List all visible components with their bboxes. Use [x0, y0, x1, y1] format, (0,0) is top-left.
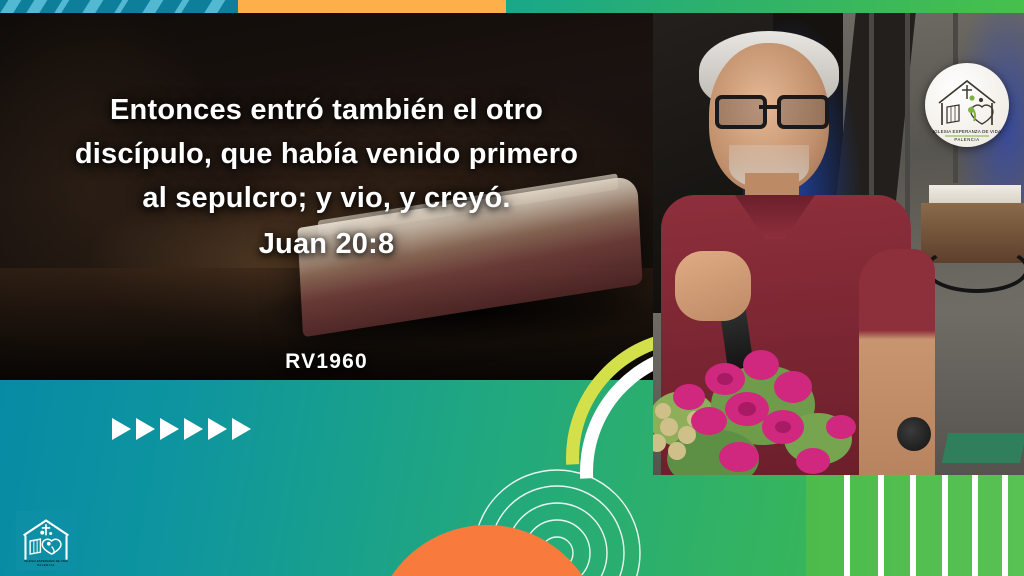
- logo-name-line-2: PALENCIA: [37, 563, 54, 567]
- house-cross-bible-heart-icon: IGLESIA ESPERANZA DE VIDA PALENCIA: [18, 513, 74, 569]
- eyeglasses-icon: [715, 95, 823, 121]
- broadcast-stage: Entonces entró también el otro discípulo…: [0, 0, 1024, 576]
- play-arrow-icon: [232, 418, 251, 440]
- flower-arrangement: [653, 309, 893, 475]
- logo-name-line-2: PALENCIA: [954, 137, 979, 142]
- top-decorative-bar: [0, 0, 1024, 13]
- verse-line-3: al sepulcro; y vio, y creyó.: [24, 176, 629, 220]
- logo-name-line-1: IGLESIA ESPERANZA DE VIDA: [933, 129, 1001, 134]
- live-video-panel[interactable]: IGLESIA ESPERANZA DE VIDA PALENCIA: [653, 13, 1024, 475]
- play-arrow-icon: [112, 418, 131, 440]
- speaker-monitor: [897, 417, 931, 451]
- arrow-chevron-group: [112, 418, 251, 440]
- verse-line-2: discípulo, que había venido primero: [24, 132, 629, 176]
- green-book: [942, 433, 1024, 463]
- verse-reference: Juan 20:8: [24, 222, 629, 266]
- vertical-stripes-decor: [806, 475, 1024, 576]
- play-arrow-icon: [136, 418, 155, 440]
- topbar-blue-segment: [0, 0, 238, 13]
- topbar-green-segment: [506, 0, 1024, 13]
- house-cross-bible-heart-icon: IGLESIA ESPERANZA DE VIDA PALENCIA: [925, 63, 1009, 147]
- topbar-orange-segment: [238, 0, 506, 13]
- church-logo-bottom-left: IGLESIA ESPERANZA DE VIDA PALENCIA: [16, 511, 76, 571]
- coiled-cable: [925, 245, 1024, 293]
- play-arrow-icon: [208, 418, 227, 440]
- bible-version-label: RV1960: [0, 350, 653, 374]
- church-logo-circle: IGLESIA ESPERANZA DE VIDA PALENCIA: [925, 63, 1009, 147]
- verse-text-block: Entonces entró también el otro discípulo…: [0, 88, 653, 266]
- verse-line-1: Entonces entró también el otro: [24, 88, 629, 132]
- play-arrow-icon: [160, 418, 179, 440]
- play-arrow-icon: [184, 418, 203, 440]
